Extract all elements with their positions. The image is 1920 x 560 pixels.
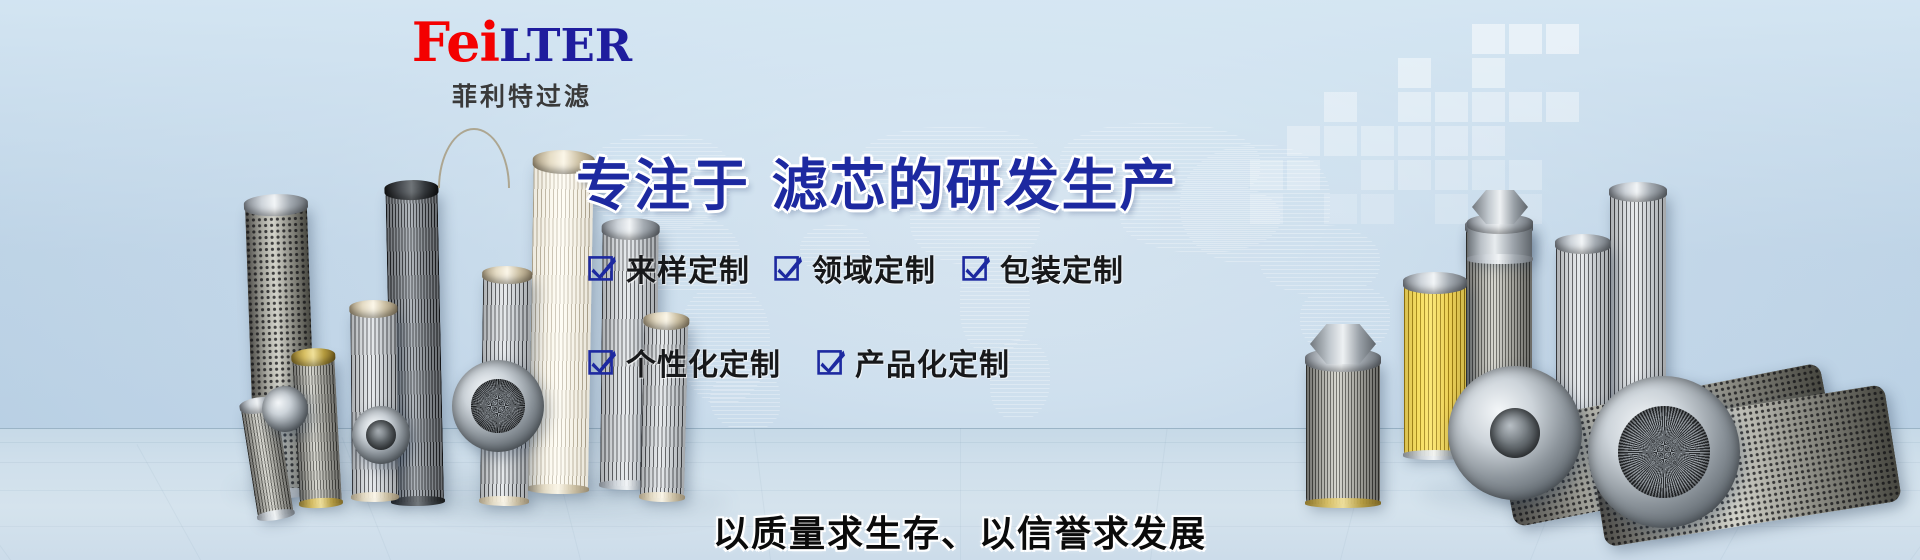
mosaic-pixel xyxy=(1361,160,1394,190)
cartridge-body xyxy=(350,309,398,498)
logo-subtitle: 菲利特过滤 xyxy=(392,77,652,113)
mosaic-pixel xyxy=(1287,126,1320,156)
mosaic-pixel xyxy=(1472,24,1505,54)
promo-banner: FeiLTER 菲利特过滤 专注于 滤芯的研发生产 来样定制 xyxy=(0,0,1920,560)
feature-item-lai-yang[interactable]: 来样定制 xyxy=(588,246,750,290)
feature-label: 领域定制 xyxy=(812,246,936,290)
logo-wordmark: FeiLTER xyxy=(392,14,652,71)
checkbox-checked-icon xyxy=(962,254,991,283)
feature-item-ling-yu[interactable]: 领域定制 xyxy=(774,246,936,290)
feature-row-2: 个性化定制 产品化定制 xyxy=(588,340,1208,384)
cartridge-end-cap xyxy=(1555,234,1611,254)
cartridge-wire-handle xyxy=(438,128,510,188)
filter-cartridge-mesh-front-left xyxy=(1306,348,1380,504)
filter-ring-face xyxy=(452,360,544,452)
cartridge-end-cap xyxy=(1609,182,1667,202)
mosaic-pixel xyxy=(1472,160,1505,190)
filter-ring-large-polished xyxy=(1448,366,1582,500)
mosaic-pixel xyxy=(1472,126,1505,156)
cartridge-base-cap xyxy=(1467,254,1533,264)
mosaic-pixel xyxy=(1509,160,1542,190)
filter-ring-bore-small xyxy=(366,420,396,450)
mosaic-pixel xyxy=(1546,92,1579,122)
filter-ring-bore xyxy=(471,379,525,433)
checkbox-checked-icon xyxy=(588,254,617,283)
mosaic-pixel xyxy=(1435,126,1468,156)
feature-label: 产品化定制 xyxy=(855,340,1010,384)
logo-wordmark-red: Fei xyxy=(412,10,499,74)
cartridge-end-cap xyxy=(349,300,397,318)
filter-ring-large-open-bore xyxy=(1618,406,1710,498)
feature-item-chan-pin-hua[interactable]: 产品化定制 xyxy=(817,340,1010,384)
mosaic-pixel xyxy=(1324,92,1357,122)
mosaic-pixel xyxy=(1250,194,1283,224)
mosaic-pixel xyxy=(1250,160,1283,190)
mosaic-pixel xyxy=(1435,160,1468,190)
mosaic-pixel xyxy=(1287,160,1320,190)
tagline: 以质量求生存、以信誉求发展 xyxy=(0,505,1920,557)
mosaic-pixel xyxy=(1472,92,1505,122)
feature-label: 包装定制 xyxy=(1000,246,1124,290)
cartridge-end-cap xyxy=(482,266,532,285)
mosaic-pixel xyxy=(1398,160,1431,190)
mosaic-pixel xyxy=(1398,126,1431,156)
world-map-landmass xyxy=(1260,225,1380,295)
pixel-mosaic-decoration xyxy=(1140,0,1560,210)
mosaic-pixel xyxy=(1361,126,1394,156)
brand-logo[interactable]: FeiLTER 菲利特过滤 xyxy=(392,14,652,113)
mosaic-pixel xyxy=(1435,92,1468,122)
checkbox-checked-icon xyxy=(588,348,617,377)
feature-label: 个性化定制 xyxy=(626,340,781,384)
mosaic-pixel xyxy=(1324,126,1357,156)
cartridge-base-cap xyxy=(351,492,399,502)
mosaic-pixel xyxy=(1361,194,1394,224)
checkbox-checked-icon xyxy=(817,348,846,377)
cartridge-body xyxy=(1306,360,1380,504)
logo-wordmark-blue: LTER xyxy=(499,19,632,72)
cartridge-end-cap xyxy=(1403,272,1467,294)
mosaic-pixel xyxy=(1509,92,1542,122)
cartridge-body xyxy=(292,356,342,505)
mosaic-pixel xyxy=(1398,92,1431,122)
filter-ring-face-small xyxy=(352,406,410,464)
mosaic-pixel xyxy=(1324,194,1357,224)
page-title: 专注于 滤芯的研发生产 xyxy=(576,141,1178,222)
mosaic-pixel xyxy=(1398,58,1431,88)
checkbox-checked-icon xyxy=(774,254,803,283)
filter-ring-large-bore xyxy=(1490,408,1540,458)
feature-row-1: 来样定制 领域定制 xyxy=(588,246,1208,290)
feature-item-ge-xing-hua[interactable]: 个性化定制 xyxy=(588,340,781,384)
feature-item-bao-zhuang[interactable]: 包装定制 xyxy=(962,246,1124,290)
mosaic-pixel xyxy=(1472,58,1505,88)
filter-cartridge-small-pleated xyxy=(350,300,398,498)
feature-checklist: 来样定制 领域定制 xyxy=(588,246,1208,384)
mosaic-pixel xyxy=(1435,194,1468,224)
mosaic-pixel xyxy=(1509,24,1542,54)
feature-label: 来样定制 xyxy=(626,246,750,290)
mosaic-pixel xyxy=(1546,24,1579,54)
